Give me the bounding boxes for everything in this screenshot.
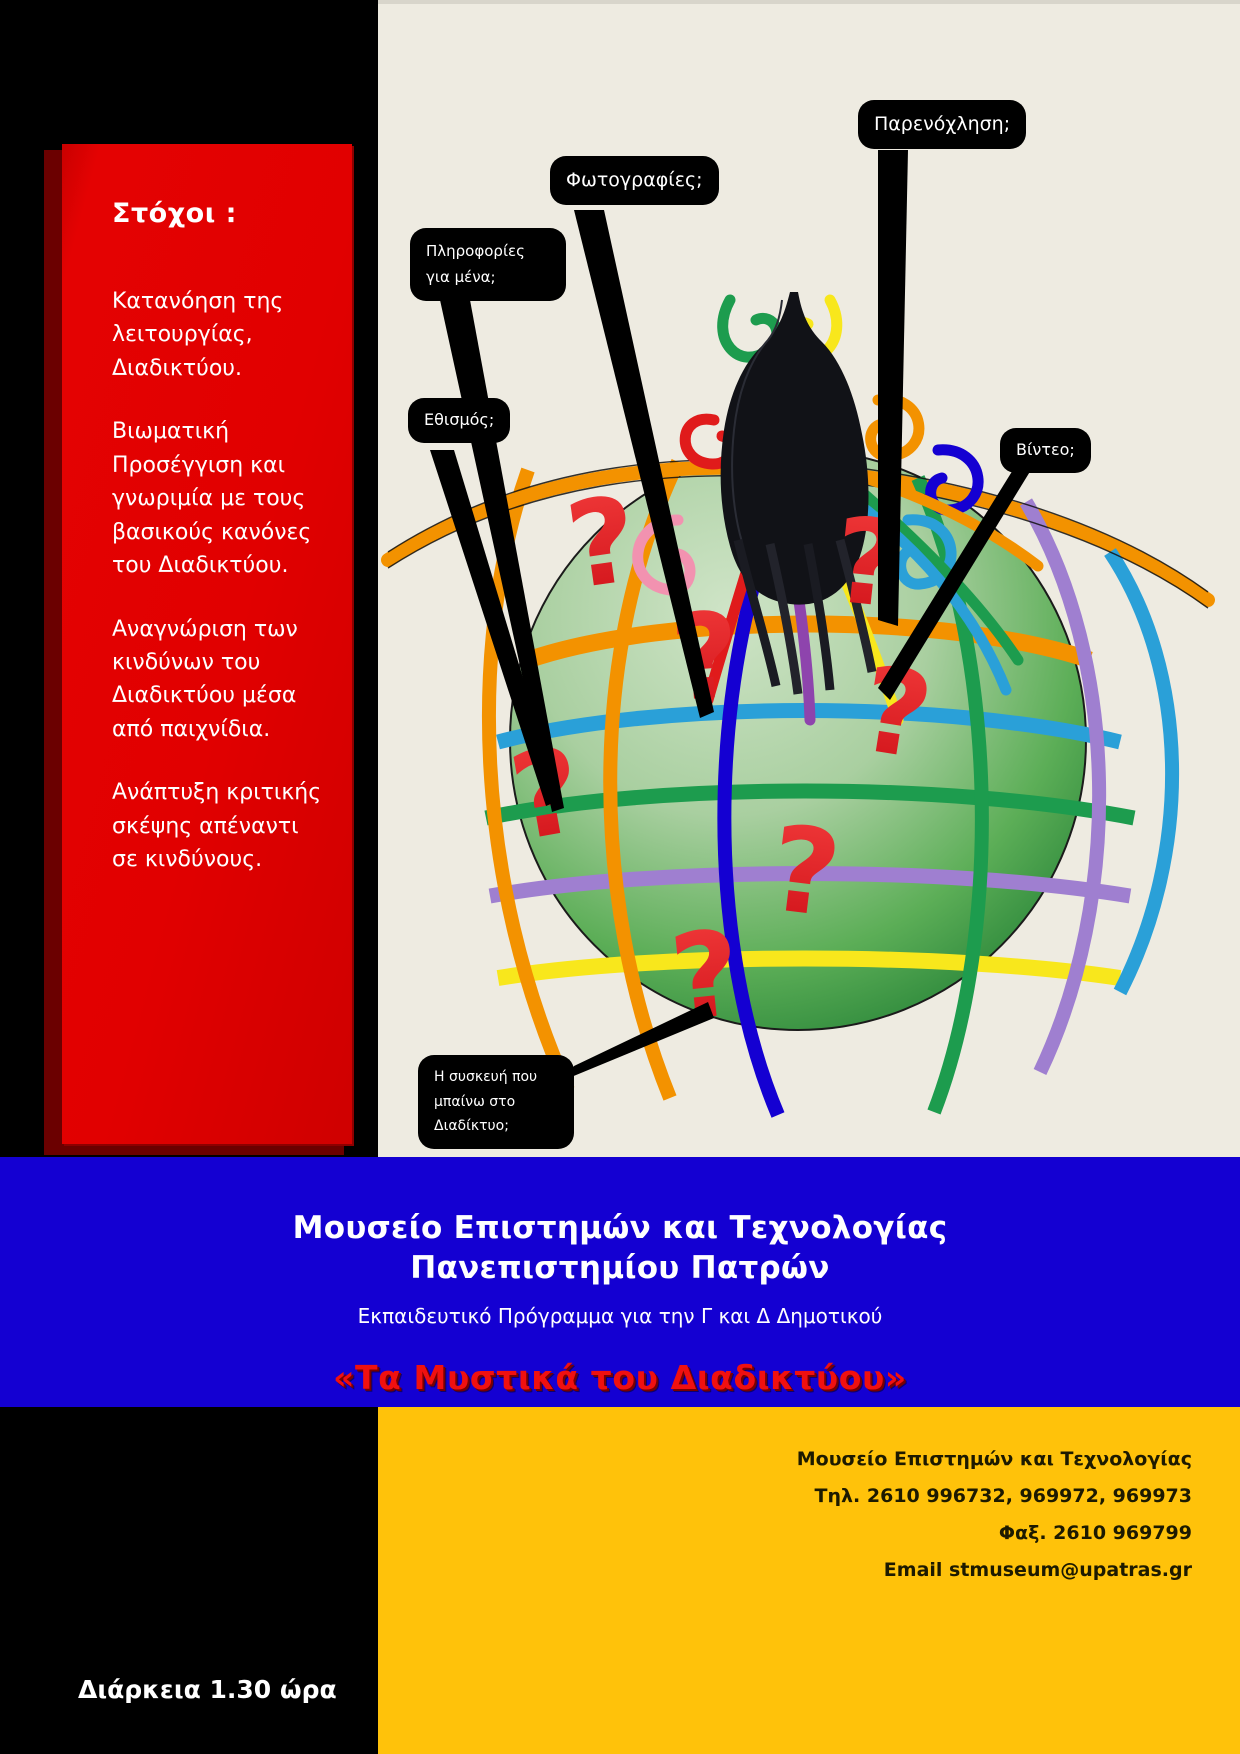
bubble-video-label: Βίντεο; bbox=[1016, 440, 1075, 459]
objective-paragraph: Ανάπτυξη κριτικής σκέψης απέναντι σε κιν… bbox=[112, 776, 326, 876]
museum-title-line1: Μουσείο Επιστημών και Τεχνολογίας bbox=[293, 1210, 948, 1246]
bubble-addiction[interactable]: Εθισμός; bbox=[408, 398, 510, 443]
contact-line: Μουσείο Επιστημών και Τεχνολογίας bbox=[378, 1441, 1192, 1478]
illustration-panel: ? ? ? ? ? ? ? Παρε bbox=[378, 0, 1240, 1157]
bubble-device-label: Η συσκευή που μπαίνω στο Διαδίκτυο; bbox=[434, 1069, 537, 1134]
duration-block: Διάρκεια 1.30 ώρα bbox=[0, 1407, 378, 1754]
objective-paragraph: Βιωματική Προσέγγιση και γνωριμία με του… bbox=[112, 415, 326, 582]
contact-line: Τηλ. 2610 996732, 969972, 969973 bbox=[378, 1478, 1192, 1515]
museum-title-line2: Πανεπιστημίου Πατρών bbox=[410, 1250, 829, 1286]
bubble-photos[interactable]: Φωτογραφίες; bbox=[550, 156, 719, 205]
program-headline: «Τα Μυστικά του Διαδικτύου» bbox=[0, 1358, 1240, 1397]
contact-block: Μουσείο Επιστημών και Τεχνολογίας Τηλ. 2… bbox=[378, 1407, 1240, 1754]
bubble-photos-label: Φωτογραφίες; bbox=[566, 169, 703, 191]
duration-label: Διάρκεια 1.30 ώρα bbox=[78, 1675, 337, 1704]
bubble-device[interactable]: Η συσκευή που μπαίνω στο Διαδίκτυο; bbox=[418, 1055, 574, 1149]
contact-line: Φαξ. 2610 969799 bbox=[378, 1515, 1192, 1552]
bubble-info-about-me[interactable]: Πληροφορίες για μένα; bbox=[410, 228, 566, 301]
museum-title: Μουσείο Επιστημών και Τεχνολογίας Πανεπι… bbox=[0, 1157, 1240, 1288]
objective-paragraph: Κατανόηση της λειτουργίας, Διαδικτύου. bbox=[112, 285, 326, 385]
bubble-video[interactable]: Βίντεο; bbox=[1000, 428, 1091, 473]
museum-banner: Μουσείο Επιστημών και Τεχνολογίας Πανεπι… bbox=[0, 1157, 1240, 1407]
bubble-harassment-label: Παρενόχληση; bbox=[874, 113, 1010, 135]
program-subtitle: Εκπαιδευτικό Πρόγραμμα για την Γ και Δ Δ… bbox=[0, 1304, 1240, 1328]
objectives-title: Στόχοι : bbox=[112, 198, 326, 229]
bubble-harassment[interactable]: Παρενόχληση; bbox=[858, 100, 1026, 149]
bubble-pointers bbox=[378, 0, 1240, 1157]
objectives-card: Στόχοι : Κατανόηση της λειτουργίας, Διαδ… bbox=[62, 144, 352, 1144]
objective-paragraph: Αναγνώριση των κινδύνων του Διαδικτύου μ… bbox=[112, 613, 326, 747]
bubble-addiction-label: Εθισμός; bbox=[424, 410, 494, 429]
contact-email[interactable]: Email stmuseum@upatras.gr bbox=[378, 1552, 1192, 1589]
poster: ? ? ? ? ? ? ? Παρε bbox=[0, 0, 1240, 1754]
bubble-info-about-me-label: Πληροφορίες για μένα; bbox=[426, 242, 525, 286]
